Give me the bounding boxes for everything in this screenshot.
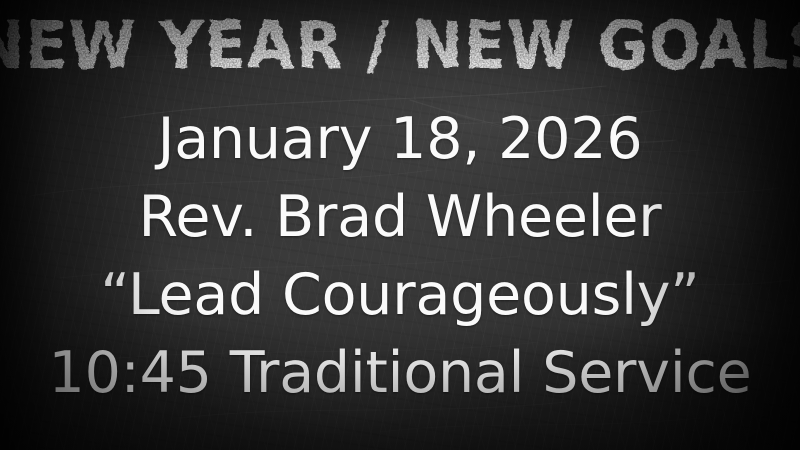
- edge-vignette: [0, 0, 800, 450]
- sermon-title-slide: NEW YEAR / NEW GOALS January 18, 2026 Re…: [0, 0, 800, 450]
